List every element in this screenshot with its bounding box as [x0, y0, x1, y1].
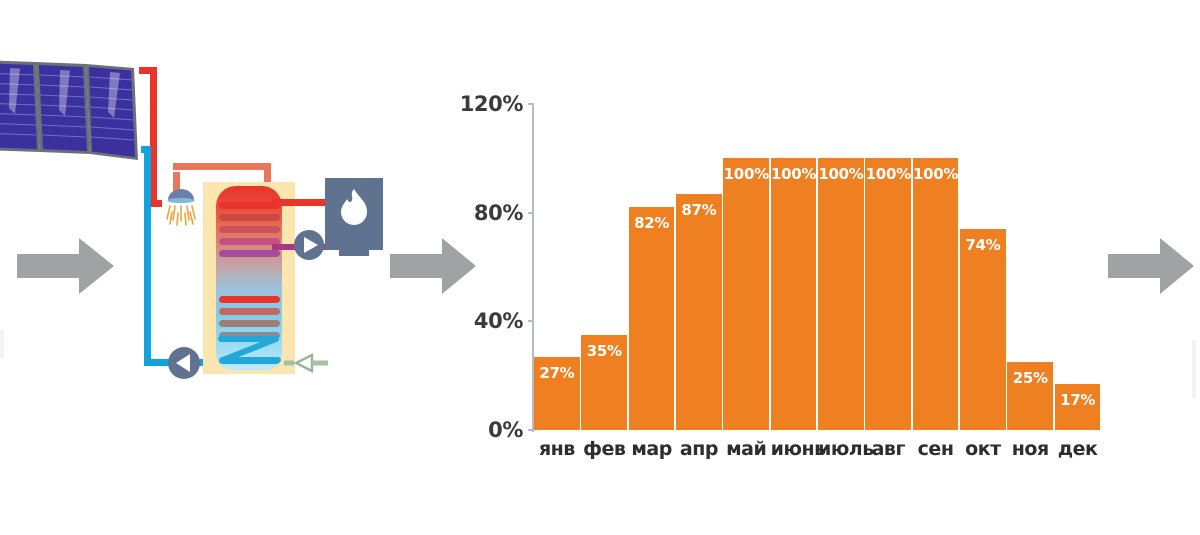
chart-bar[interactable]: 100% — [913, 158, 959, 430]
chart-bar[interactable]: 17% — [1055, 384, 1101, 430]
dhw-loop-top — [173, 163, 271, 170]
chart-bar-value-label: 25% — [1007, 369, 1053, 387]
tank-coil-upper — [219, 226, 280, 233]
chart-bar[interactable]: 25% — [1007, 362, 1053, 430]
chart-bar[interactable]: 82% — [629, 207, 675, 430]
tank-coil-lower — [219, 308, 280, 315]
chart-bar-value-label: 100% — [723, 165, 769, 183]
flow-arrow-3 — [1108, 238, 1194, 294]
edge-artifact-left — [0, 330, 4, 358]
chart-bar[interactable]: 100% — [771, 158, 817, 430]
chart-x-tick-label: фев — [581, 438, 627, 460]
chart-x-tick-label: июль — [818, 438, 864, 460]
chart-bar-value-label: 17% — [1055, 391, 1101, 409]
chart-x-tick-label: дек — [1055, 438, 1101, 460]
chart-bar-value-label: 100% — [771, 165, 817, 183]
chart-bar[interactable]: 27% — [534, 357, 580, 430]
tank-coil-lower — [219, 357, 280, 364]
chart-x-tick-label: авг — [865, 438, 911, 460]
chart-x-tick-labels: янвфевмарапрмайиюньиюльавгсеноктноядек — [534, 432, 1102, 464]
chart-bar-value-label: 100% — [865, 165, 911, 183]
chart-bars: 27%35%82%87%100%100%100%100%100%74%25%17… — [534, 104, 1102, 430]
chart-y-tick-label: 80% — [474, 201, 523, 225]
solar-hot-pipe-down — [150, 67, 157, 207]
chart-bar[interactable]: 35% — [581, 335, 627, 430]
chart-bar[interactable]: 100% — [723, 158, 769, 430]
chart-bar[interactable]: 74% — [960, 229, 1006, 430]
flow-arrow-1 — [17, 238, 114, 294]
chart-bar-value-label: 87% — [676, 201, 722, 219]
chart-y-tick-label: 0% — [488, 418, 523, 442]
boiler-supply-pipe — [272, 199, 330, 206]
tank-coil-upper — [219, 238, 280, 245]
chart-x-tick-label: июнь — [771, 438, 817, 460]
chart-bar-value-label: 82% — [629, 214, 675, 232]
chart-x-tick-label: мар — [629, 438, 675, 460]
chart-bar-value-label: 100% — [913, 165, 959, 183]
boiler-circulation-pump — [292, 228, 326, 262]
chart-x-tick-label: апр — [676, 438, 722, 460]
chart-bar-value-label: 35% — [581, 342, 627, 360]
cold-water-inlet-valve — [284, 352, 328, 374]
chart-bar-value-label: 100% — [818, 165, 864, 183]
screenshot-root: 0%40%80%120% 27%35%82%87%100%100%100%100… — [0, 0, 1200, 535]
gas-boiler — [325, 178, 387, 260]
tank-coil-lower — [219, 320, 280, 327]
tank-coil-upper — [219, 250, 280, 257]
chart-x-tick-label: май — [723, 438, 769, 460]
solar-panel — [0, 60, 40, 152]
solar-circulation-pump — [166, 345, 202, 381]
solar-collector-array — [0, 50, 161, 175]
tank-coil-lower — [219, 296, 280, 303]
chart-bar[interactable]: 87% — [676, 194, 722, 430]
chart-bar[interactable]: 100% — [865, 158, 911, 430]
tank-coil-upper — [219, 202, 280, 209]
edge-artifact-right — [1192, 340, 1196, 398]
chart-x-tick-label: ноя — [1007, 438, 1053, 460]
solar-panel — [86, 64, 138, 160]
chart-x-tick-label: сен — [913, 438, 959, 460]
chart-bar-value-label: 27% — [534, 364, 580, 382]
chart-y-tick-label: 120% — [460, 92, 523, 116]
monthly-solar-coverage-chart: 0%40%80%120% 27%35%82%87%100%100%100%100… — [462, 88, 1102, 448]
chart-x-tick-label: окт — [960, 438, 1006, 460]
solar-panel — [36, 62, 90, 154]
chart-x-tick-label: янв — [534, 438, 580, 460]
chart-bar-value-label: 74% — [960, 236, 1006, 254]
chart-y-tick-label: 40% — [474, 309, 523, 333]
chart-bar[interactable]: 100% — [818, 158, 864, 430]
solar-cold-pipe-down — [144, 146, 151, 365]
tank-coil-upper — [219, 214, 280, 221]
